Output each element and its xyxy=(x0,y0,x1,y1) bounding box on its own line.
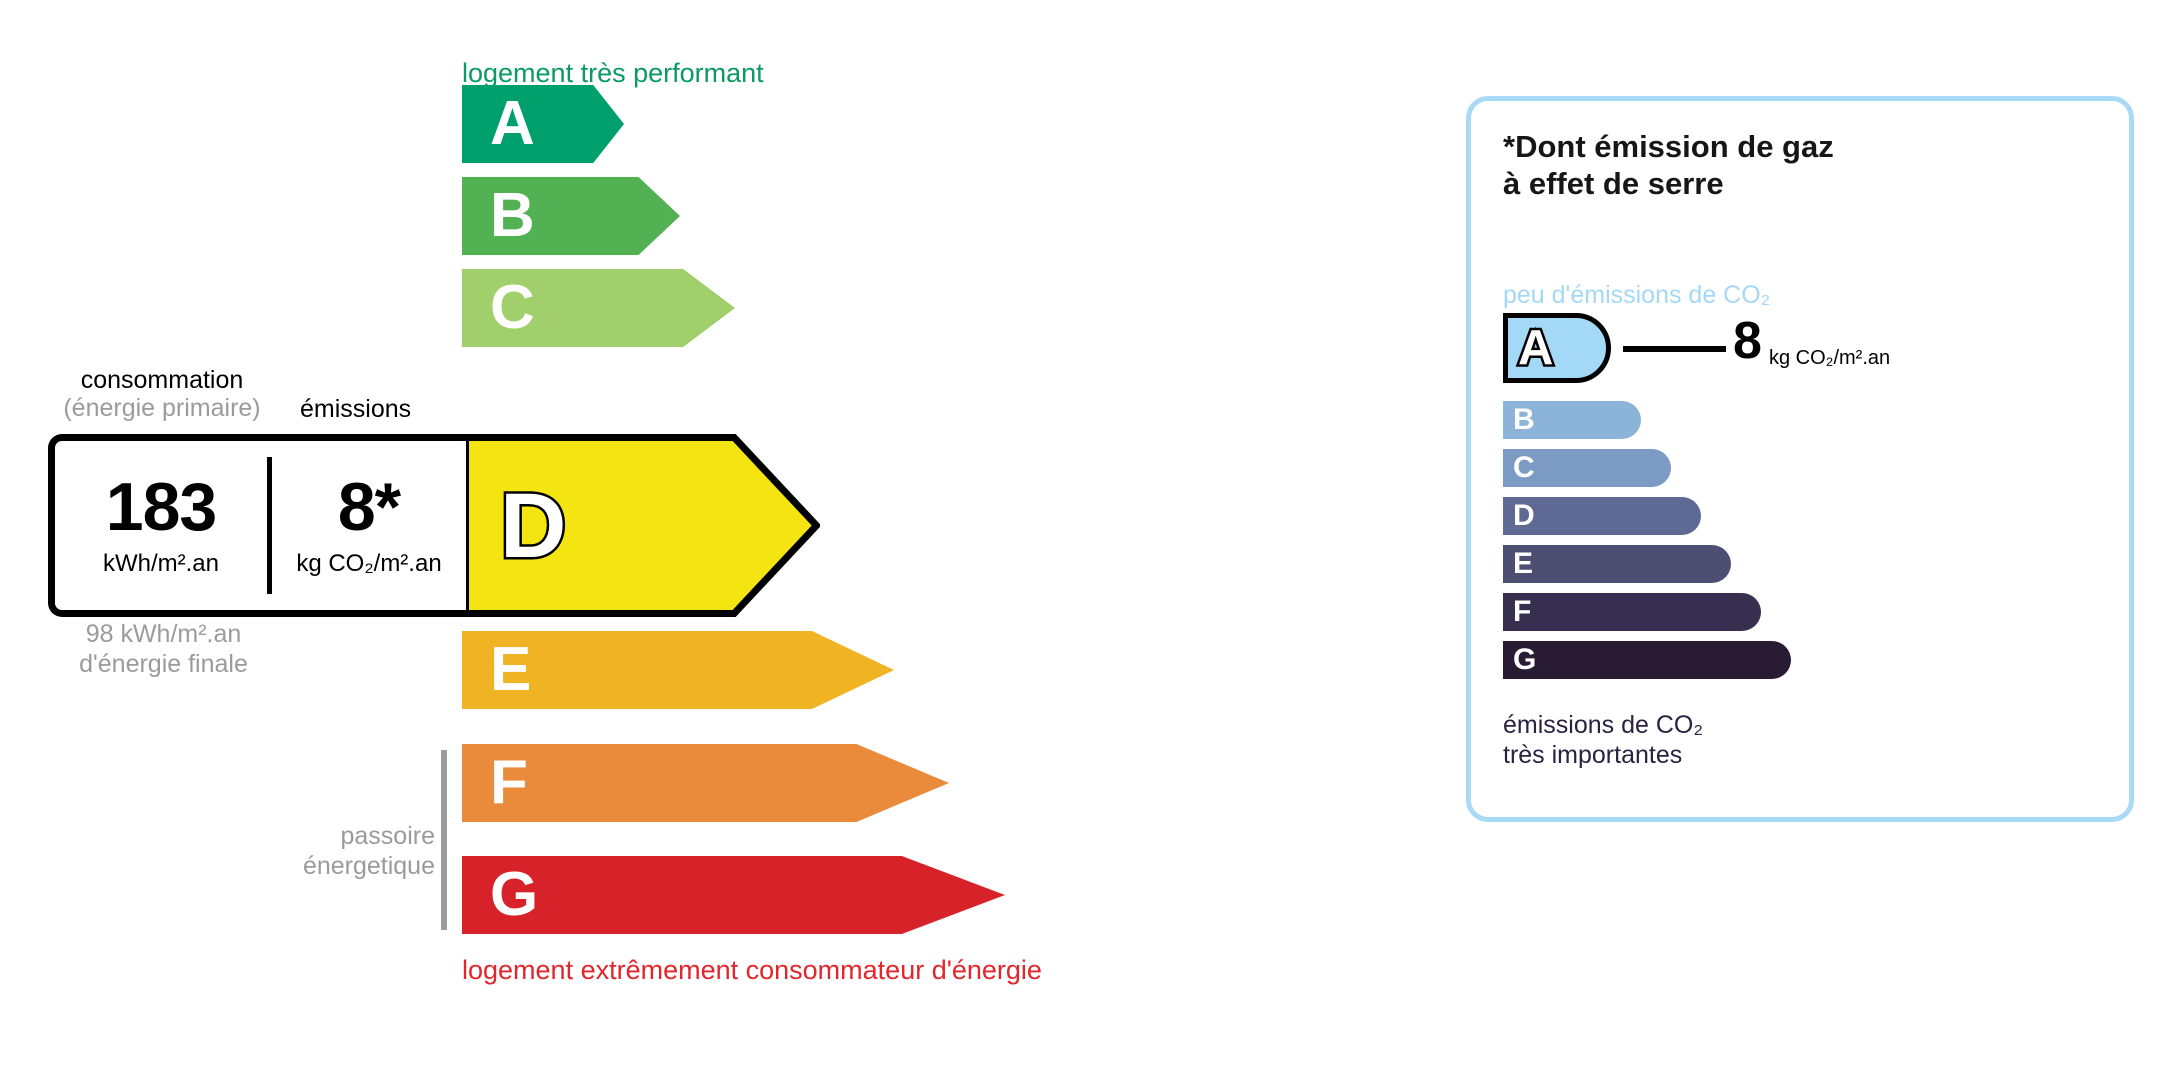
co2-bar-e: E xyxy=(1503,545,1731,583)
consumption-header-main: consommation xyxy=(81,366,244,394)
band-arrow-shape xyxy=(462,856,1005,934)
band-inner: D xyxy=(462,434,820,617)
co2-bar-fill: B xyxy=(1503,401,1641,439)
consumption-value: 183 xyxy=(106,473,216,541)
co2-bar-f: F xyxy=(1503,593,1761,631)
consumption-unit: kWh/m².an xyxy=(103,550,219,578)
energy-band-g: G xyxy=(462,856,1005,934)
co2-bar-fill: G xyxy=(1503,641,1791,679)
consumption-header-sub: (énergie primaire) xyxy=(62,394,262,422)
consumption-cell: 183 kWh/m².an xyxy=(55,441,267,610)
dpe-energy-scale: logement très performant ABCDEFG logemen… xyxy=(0,0,1380,1079)
band-inner: G xyxy=(462,856,1005,934)
band-inner: A xyxy=(462,85,624,163)
co2-bar-fill: F xyxy=(1503,593,1761,631)
band-letter-f: F xyxy=(490,752,528,814)
co2-panel-title: *Dont émission de gaz à effet de serre xyxy=(1503,129,1834,202)
band-arrow-shape xyxy=(462,744,949,822)
measured-values-box: 183 kWh/m².an 8* kg CO₂/m².an xyxy=(48,434,466,617)
co2-bar-letter-d: D xyxy=(1513,501,1535,531)
co2-selected-badge: A xyxy=(1503,313,1611,383)
co2-bar-b: B xyxy=(1503,401,1641,439)
co2-bar-fill: C xyxy=(1503,449,1671,487)
energy-band-a: A xyxy=(462,85,624,163)
energy-band-b: B xyxy=(462,177,680,255)
co2-bar-letter-g: G xyxy=(1513,645,1536,675)
energy-band-f: F xyxy=(462,744,949,822)
band-inner: B xyxy=(462,177,680,255)
band-letter-g: G xyxy=(490,864,538,926)
co2-bar-letter-f: F xyxy=(1513,597,1531,627)
band-letter-d: D xyxy=(500,480,566,572)
co2-bar-letter-b: B xyxy=(1513,405,1535,435)
co2-bar-g: G xyxy=(1503,641,1791,679)
co2-bar-fill: E xyxy=(1503,545,1731,583)
band-inner: F xyxy=(462,744,949,822)
passoire-label: passoire énergetique xyxy=(210,822,435,881)
co2-panel: *Dont émission de gaz à effet de serre p… xyxy=(1466,96,2134,822)
co2-value: 8 xyxy=(1733,315,1762,367)
emissions-unit: kg CO₂/m².an xyxy=(296,550,441,578)
band-letter-b: B xyxy=(490,185,535,247)
emissions-value: 8* xyxy=(338,473,400,541)
consumption-header: consommation (énergie primaire) xyxy=(62,366,262,422)
energy-band-d: D xyxy=(462,434,820,617)
energy-band-e: E xyxy=(462,631,894,709)
co2-bar-d: D xyxy=(1503,497,1701,535)
band-letter-a: A xyxy=(490,93,535,155)
co2-bar-c: C xyxy=(1503,449,1671,487)
co2-bar-letter-e: E xyxy=(1513,549,1533,579)
band-inner: E xyxy=(462,631,894,709)
band-inner: C xyxy=(462,269,735,347)
co2-bar-letter-c: C xyxy=(1513,453,1535,483)
energy-band-c: C xyxy=(462,269,735,347)
band-letter-c: C xyxy=(490,277,535,339)
co2-value-unit: kg CO₂/m².an xyxy=(1769,347,1890,370)
co2-top-caption: peu d'émissions de CO₂ xyxy=(1503,281,1770,310)
co2-selected-letter: A xyxy=(1518,324,1553,373)
band-arrow-shape xyxy=(462,85,624,163)
band-letter-e: E xyxy=(490,639,531,701)
co2-bar-fill: D xyxy=(1503,497,1701,535)
scale-bottom-caption: logement extrêmement consommateur d'éner… xyxy=(462,955,1042,986)
co2-leader-line xyxy=(1623,346,1726,352)
co2-bottom-caption: émissions de CO₂ très importantes xyxy=(1503,711,1703,770)
passoire-bracket xyxy=(441,750,447,930)
emissions-header: émissions xyxy=(300,395,411,423)
emissions-cell: 8* kg CO₂/m².an xyxy=(272,441,466,610)
final-energy-note: 98 kWh/m².an d'énergie finale xyxy=(56,620,271,679)
